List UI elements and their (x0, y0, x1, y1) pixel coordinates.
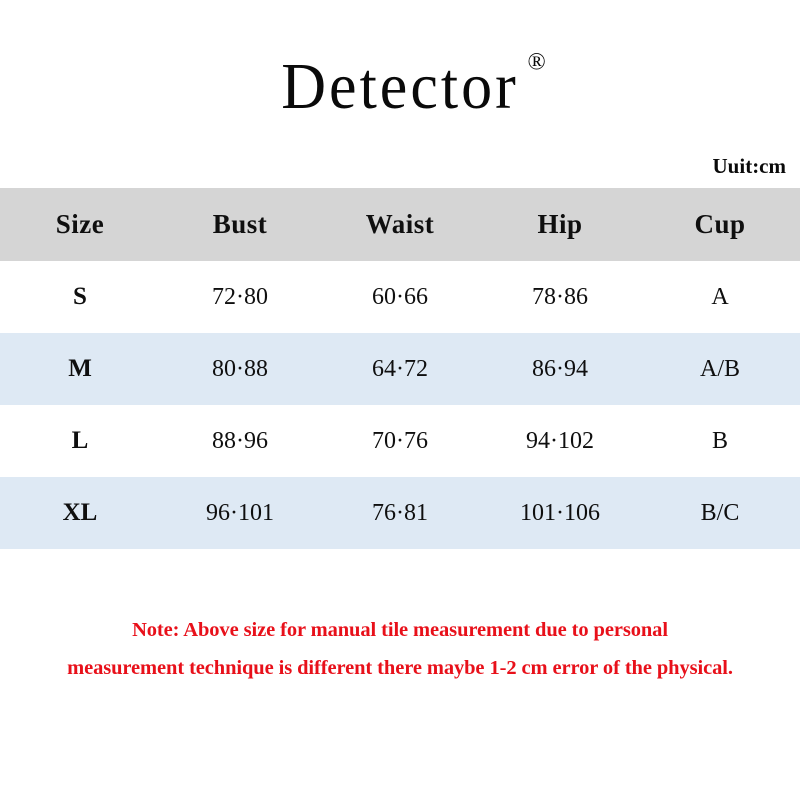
registered-trademark-icon: ® (527, 51, 545, 75)
size-chart-table: Size Bust Waist Hip Cup S 72·80 60·66 78… (0, 188, 800, 549)
cell-hip: 78·86 (480, 261, 640, 333)
table-header-row: Size Bust Waist Hip Cup (0, 188, 800, 261)
cell-hip: 94·102 (480, 405, 640, 477)
measurement-note: Note: Above size for manual tile measure… (0, 611, 800, 687)
cell-bust: 88·96 (160, 405, 320, 477)
cell-size: S (0, 261, 160, 333)
cell-waist: 64·72 (320, 333, 480, 405)
column-header-cup: Cup (640, 188, 800, 261)
cell-bust: 72·80 (160, 261, 320, 333)
table-row: L 88·96 70·76 94·102 B (0, 405, 800, 477)
table-row: M 80·88 64·72 86·94 A/B (0, 333, 800, 405)
cell-hip: 86·94 (480, 333, 640, 405)
cell-hip: 101·106 (480, 477, 640, 549)
cell-cup: A (640, 261, 800, 333)
column-header-hip: Hip (480, 188, 640, 261)
brand-name: Detector (281, 51, 518, 123)
cell-size: M (0, 333, 160, 405)
cell-size: L (0, 405, 160, 477)
table-row: S 72·80 60·66 78·86 A (0, 261, 800, 333)
cell-bust: 80·88 (160, 333, 320, 405)
table-row: XL 96·101 76·81 101·106 B/C (0, 477, 800, 549)
table-body: S 72·80 60·66 78·86 A M 80·88 64·72 86·9… (0, 261, 800, 549)
cell-cup: A/B (640, 333, 800, 405)
note-line-2: measurement technique is different there… (14, 649, 786, 687)
table-header: Size Bust Waist Hip Cup (0, 188, 800, 261)
brand-wordmark: Detector® (281, 54, 518, 120)
note-line-1: Note: Above size for manual tile measure… (14, 611, 786, 649)
column-header-waist: Waist (320, 188, 480, 261)
cell-cup: B/C (640, 477, 800, 549)
brand-header: Detector® (0, 0, 800, 118)
cell-bust: 96·101 (160, 477, 320, 549)
unit-label: Uuit:cm (713, 154, 786, 178)
column-header-size: Size (0, 188, 160, 261)
cell-cup: B (640, 405, 800, 477)
column-header-bust: Bust (160, 188, 320, 261)
cell-waist: 76·81 (320, 477, 480, 549)
cell-waist: 70·76 (320, 405, 480, 477)
unit-row: Uuit:cm (0, 154, 800, 179)
cell-waist: 60·66 (320, 261, 480, 333)
cell-size: XL (0, 477, 160, 549)
